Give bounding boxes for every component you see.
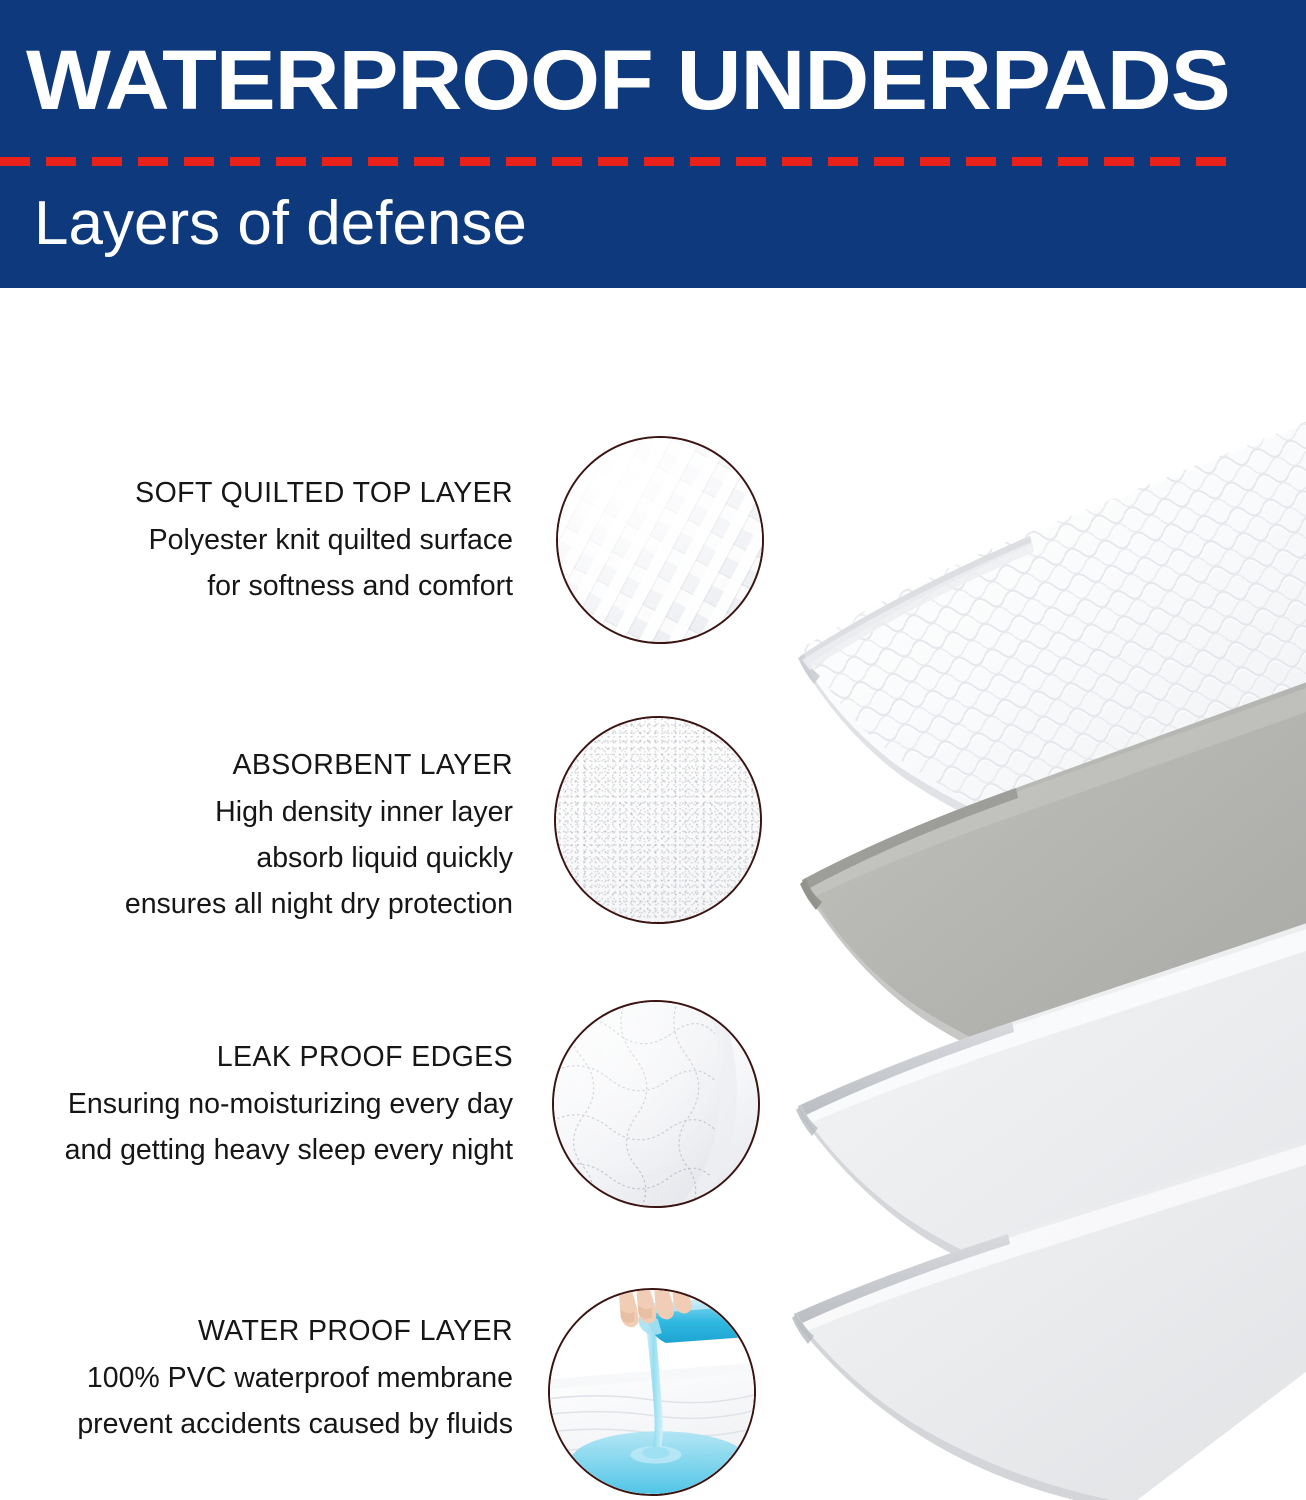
feature-title: SOFT QUILTED TOP LAYER (0, 470, 513, 517)
feature-line: ensures all night dry protection (0, 881, 513, 927)
feature-soft-quilted-top-layer: SOFT QUILTED TOP LAYER Polyester knit qu… (0, 470, 513, 609)
page-title: WATERPROOF UNDERPADS (26, 34, 1306, 126)
feature-line: Polyester knit quilted surface (0, 517, 513, 563)
feature-leak-proof-edges: LEAK PROOF EDGES Ensuring no-moisturizin… (0, 1034, 513, 1173)
page-subtitle: Layers of defense (34, 186, 527, 262)
swatch-quilted-pad-corner (552, 1000, 760, 1208)
water-pour-on-pad-icon (550, 1290, 754, 1494)
absorbent-fiber-texture-icon (556, 718, 760, 922)
header-banner: WATERPROOF UNDERPADS Layers of defense (0, 0, 1306, 288)
feature-line: prevent accidents caused by fluids (0, 1401, 513, 1447)
feature-water-proof-layer: WATER PROOF LAYER 100% PVC waterproof me… (0, 1308, 513, 1447)
feature-absorbent-layer: ABSORBENT LAYER High density inner layer… (0, 742, 513, 927)
swatch-quilted-knit (556, 436, 764, 644)
swatch-absorbent-fiber (554, 716, 762, 924)
feature-line: High density inner layer (0, 789, 513, 835)
exploded-layer-illustration (780, 400, 1306, 1500)
feature-title: ABSORBENT LAYER (0, 742, 513, 789)
feature-line: for softness and comfort (0, 563, 513, 609)
feature-line: Ensuring no-moisturizing every day (0, 1081, 513, 1127)
feature-line: and getting heavy sleep every night (0, 1127, 513, 1173)
feature-title: LEAK PROOF EDGES (0, 1034, 513, 1081)
quilted-pad-corner-icon (554, 1002, 758, 1206)
swatch-water-pour (548, 1288, 756, 1496)
quilted-knit-texture-icon (558, 438, 762, 642)
dashed-divider (0, 157, 1240, 166)
infographic-page: WATERPROOF UNDERPADS Layers of defense S… (0, 0, 1306, 1500)
feature-line: 100% PVC waterproof membrane (0, 1355, 513, 1401)
feature-title: WATER PROOF LAYER (0, 1308, 513, 1355)
feature-line: absorb liquid quickly (0, 835, 513, 881)
